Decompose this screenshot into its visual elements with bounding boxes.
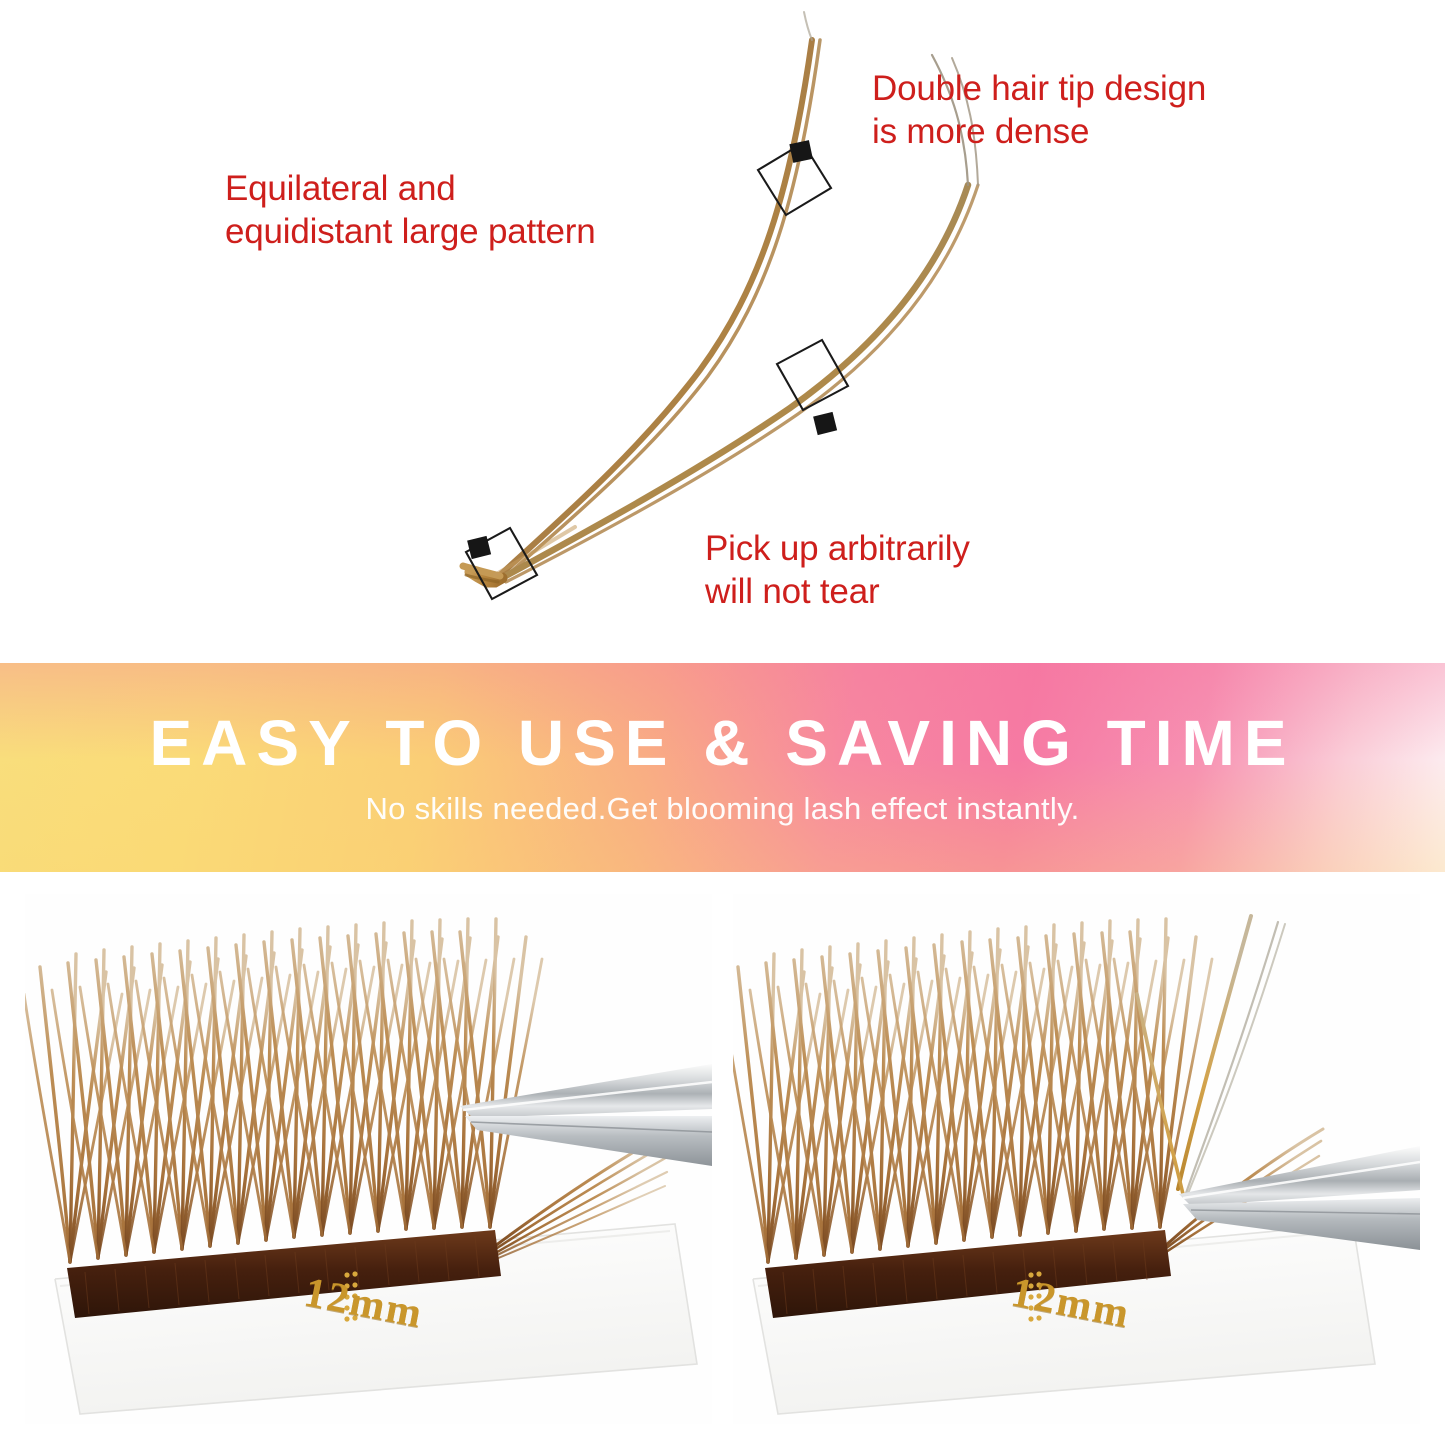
callout-double-tip: Double hair tip design is more dense [872, 68, 1206, 153]
feature-banner: EASY TO USE & SAVING TIME No skills need… [0, 663, 1445, 872]
callout-no-tear: Pick up arbitrarily will not tear [705, 528, 970, 613]
photo-section: 12mm 12mm [0, 872, 1445, 1445]
banner-subtitle: No skills needed.Get blooming lash effec… [365, 793, 1079, 824]
banner-title: EASY TO USE & SAVING TIME [149, 711, 1295, 775]
product-infographic: Equilateral and equidistant large patter… [0, 0, 1445, 1445]
diagram-section: Equilateral and equidistant large patter… [0, 0, 1445, 663]
photo-lash-tray-with-single-fan [733, 894, 1420, 1424]
lash-tray-illustration-left [25, 894, 712, 1424]
callout-equilateral: Equilateral and equidistant large patter… [225, 168, 596, 253]
photo-lash-tray-with-tweezer [25, 894, 712, 1424]
lash-tray-illustration-right [733, 894, 1420, 1424]
